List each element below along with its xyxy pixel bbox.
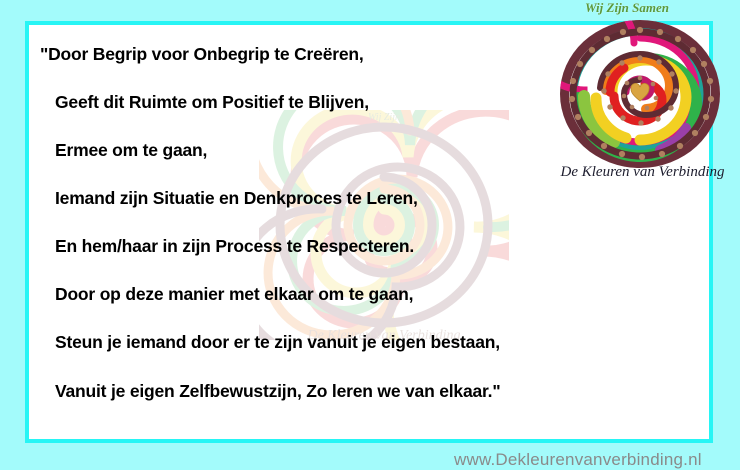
verse-line: Iemand zijn Situatie en Denkproces te Le… — [55, 188, 418, 209]
logo-tagline-top: Wij Zijn Samen — [543, 0, 711, 16]
logo-tagline-bottom: De Kleuren van Verbinding — [545, 164, 740, 181]
rainbow-spiral-icon — [559, 19, 722, 169]
brand-logo[interactable]: Wij Zijn Samen — [543, 0, 740, 192]
watermark-top-text: Wij Zijn — [259, 112, 509, 123]
verse-line: En hem/haar in zijn Process te Respecter… — [55, 236, 414, 257]
poster-canvas: Wij Zijn De Kleuren van Verbinding "Door… — [0, 0, 740, 469]
verse-line: Geeft dit Ruimte om Positief te Blijven, — [55, 92, 369, 113]
verse-line: Vanuit je eigen Zelfbewustzijn, Zo leren… — [55, 381, 500, 402]
spiral-watermark: Wij Zijn De Kleuren van Verbinding — [259, 110, 509, 340]
verse-line: Ermee om te gaan, — [55, 140, 207, 161]
verse-line: Door op deze manier met elkaar om te gaa… — [55, 284, 413, 305]
verse-line: Steun je iemand door er te zijn vanuit j… — [55, 332, 500, 353]
verse-line: "Door Begrip voor Onbegrip te Creëren, — [40, 44, 364, 65]
website-url[interactable]: www.Dekleurenvanverbinding.nl — [454, 450, 702, 470]
watermark-spiral-icon — [259, 110, 509, 340]
